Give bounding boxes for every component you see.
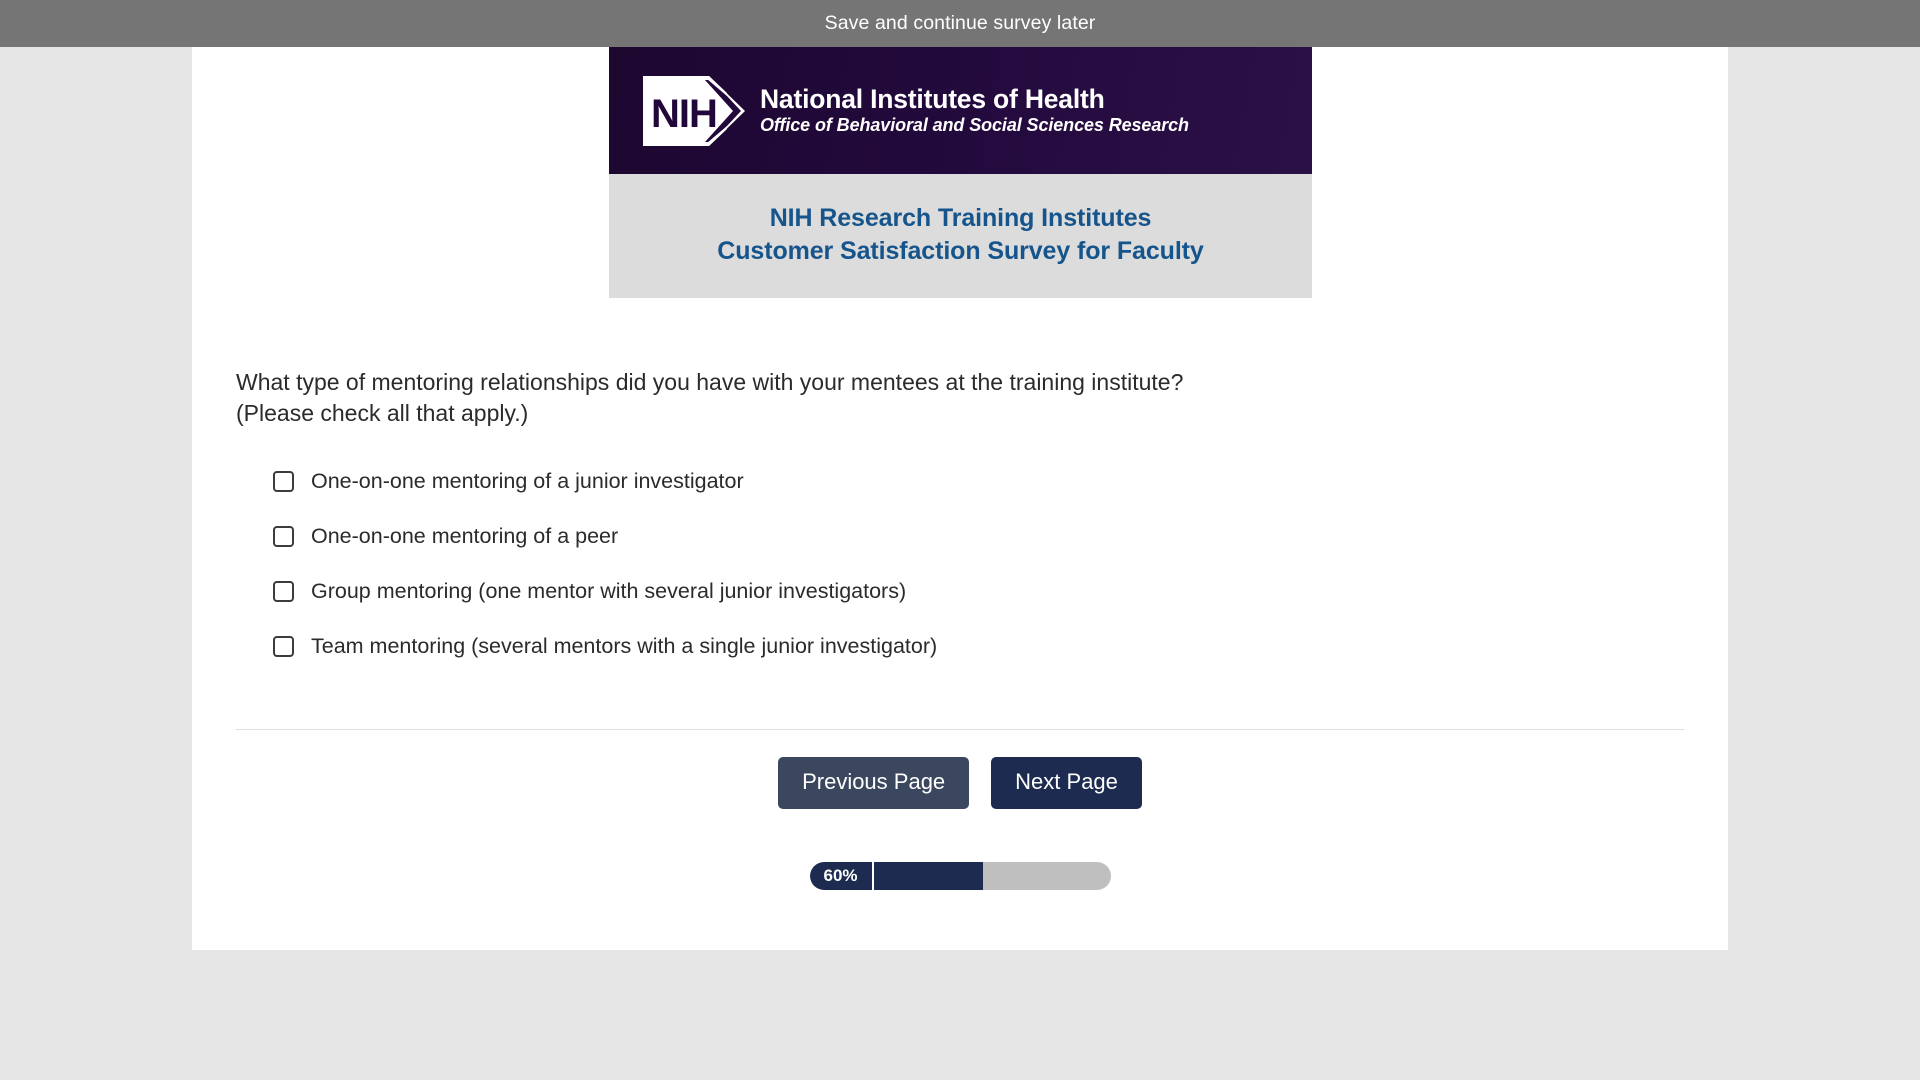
save-bar: Save and continue survey later: [0, 0, 1920, 47]
survey-title-line-2: Customer Satisfaction Survey for Faculty: [619, 235, 1302, 268]
nih-logo-header: NIH National Institutes of Health Office…: [609, 47, 1312, 174]
checkbox-label-3[interactable]: Group mentoring (one mentor with several…: [311, 579, 906, 605]
nih-agency-name: National Institutes of Health: [760, 85, 1189, 115]
previous-page-button[interactable]: Previous Page: [778, 757, 969, 809]
survey-page: Save and continue survey later NIH Natio…: [0, 0, 1920, 1080]
progress-bar: 60%: [810, 862, 1111, 890]
checkbox-option-list: One-on-one mentoring of a junior investi…: [236, 454, 1684, 674]
survey-title-block: NIH Research Training Institutes Custome…: [609, 174, 1312, 298]
progress-bar-wrap: 60%: [192, 862, 1728, 890]
checkbox-icon-1[interactable]: [273, 471, 294, 492]
checkbox-option-3[interactable]: Group mentoring (one mentor with several…: [236, 564, 1684, 619]
checkbox-icon-4[interactable]: [273, 636, 294, 657]
checkbox-option-2[interactable]: One-on-one mentoring of a peer: [236, 509, 1684, 564]
checkbox-icon-3[interactable]: [273, 581, 294, 602]
next-page-button[interactable]: Next Page: [991, 757, 1142, 809]
section-divider: [236, 729, 1684, 730]
progress-bar-fill: [872, 862, 983, 890]
svg-text:NIH: NIH: [651, 92, 717, 136]
survey-banner: NIH National Institutes of Health Office…: [609, 47, 1312, 298]
survey-sheet: NIH National Institutes of Health Office…: [192, 47, 1728, 950]
checkbox-option-1[interactable]: One-on-one mentoring of a junior investi…: [236, 454, 1684, 509]
nih-logo-icon: NIH: [641, 70, 748, 152]
survey-title-line-1: NIH Research Training Institutes: [619, 202, 1302, 235]
nih-logo-wordmark: National Institutes of Health Office of …: [760, 85, 1189, 135]
checkbox-label-1[interactable]: One-on-one mentoring of a junior investi…: [311, 469, 744, 495]
navigation-buttons: Previous Page Next Page: [192, 757, 1728, 809]
save-and-continue-link[interactable]: Save and continue survey later: [825, 14, 1096, 34]
question-block: What type of mentoring relationships did…: [236, 367, 1684, 674]
checkbox-icon-2[interactable]: [273, 526, 294, 547]
question-text-line-2: (Please check all that apply.): [236, 398, 1684, 429]
checkbox-option-4[interactable]: Team mentoring (several mentors with a s…: [236, 619, 1684, 674]
checkbox-label-2[interactable]: One-on-one mentoring of a peer: [311, 524, 618, 550]
checkbox-label-4[interactable]: Team mentoring (several mentors with a s…: [311, 634, 937, 660]
nih-office-name: Office of Behavioral and Social Sciences…: [760, 115, 1189, 136]
question-text-line-1: What type of mentoring relationships did…: [236, 367, 1684, 398]
progress-percent-label: 60%: [810, 862, 872, 890]
